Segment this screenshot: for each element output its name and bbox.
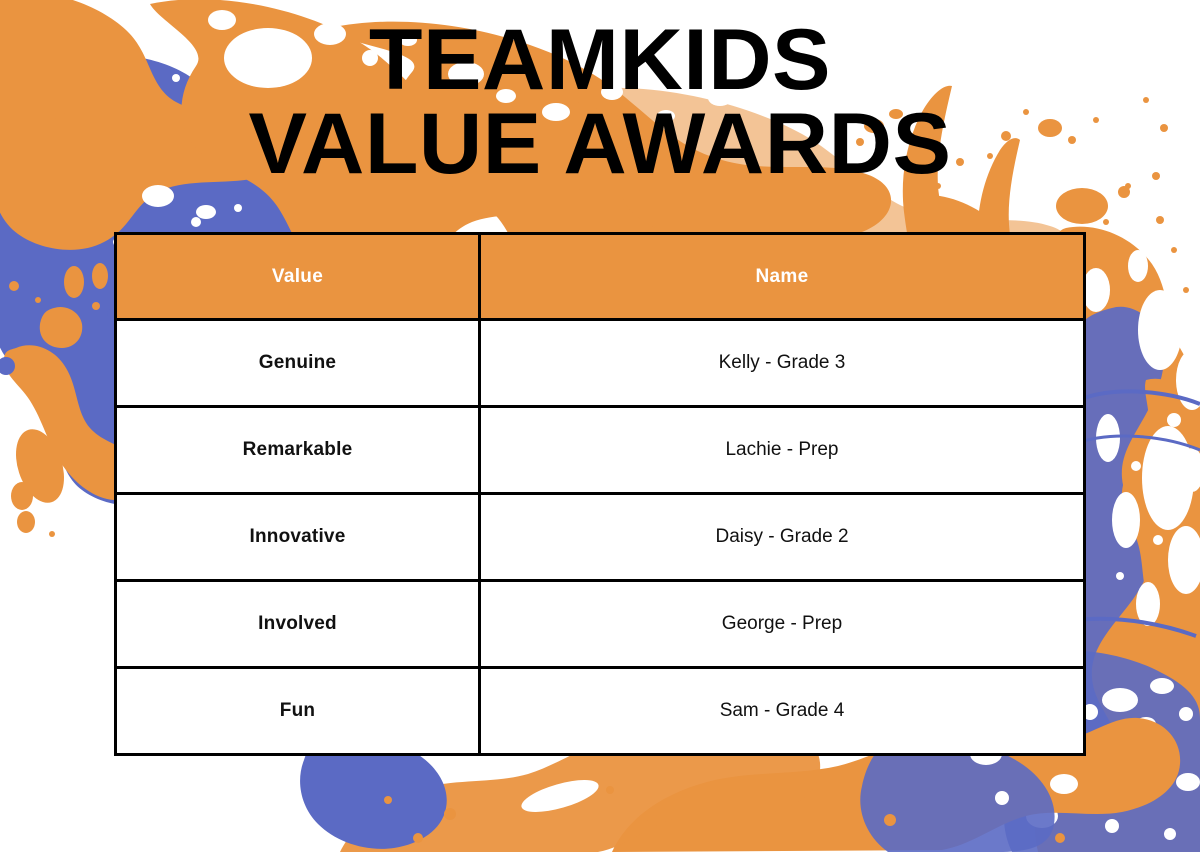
title-line-teamkids: TEAMKIDS <box>0 18 1200 102</box>
table-header-row: Value Name <box>116 234 1085 320</box>
cell-value: Involved <box>116 581 480 668</box>
table-row: InvolvedGeorge - Prep <box>116 581 1085 668</box>
column-header-name: Name <box>480 234 1085 320</box>
table-body: GenuineKelly - Grade 3RemarkableLachie -… <box>116 320 1085 755</box>
awards-table: Value Name GenuineKelly - Grade 3Remarka… <box>114 232 1086 756</box>
cell-name: Lachie - Prep <box>480 407 1085 494</box>
cell-value: Fun <box>116 668 480 755</box>
table-header: Value Name <box>116 234 1085 320</box>
cell-value: Genuine <box>116 320 480 407</box>
cell-name: George - Prep <box>480 581 1085 668</box>
cell-name: Kelly - Grade 3 <box>480 320 1085 407</box>
table-row: FunSam - Grade 4 <box>116 668 1085 755</box>
page-title: TEAMKIDS VALUE AWARDS <box>0 18 1200 187</box>
table-row: InnovativeDaisy - Grade 2 <box>116 494 1085 581</box>
awards-table-container: Value Name GenuineKelly - Grade 3Remarka… <box>114 232 1083 756</box>
title-line-value-awards: VALUE AWARDS <box>0 102 1200 186</box>
cell-name: Daisy - Grade 2 <box>480 494 1085 581</box>
table-row: GenuineKelly - Grade 3 <box>116 320 1085 407</box>
cell-value: Remarkable <box>116 407 480 494</box>
cell-name: Sam - Grade 4 <box>480 668 1085 755</box>
column-header-value: Value <box>116 234 480 320</box>
splatter-bottom-left <box>25 833 35 843</box>
table-row: RemarkableLachie - Prep <box>116 407 1085 494</box>
cell-value: Innovative <box>116 494 480 581</box>
poster-canvas: TEAMKIDS VALUE AWARDS Value Name Genuine… <box>0 0 1200 852</box>
